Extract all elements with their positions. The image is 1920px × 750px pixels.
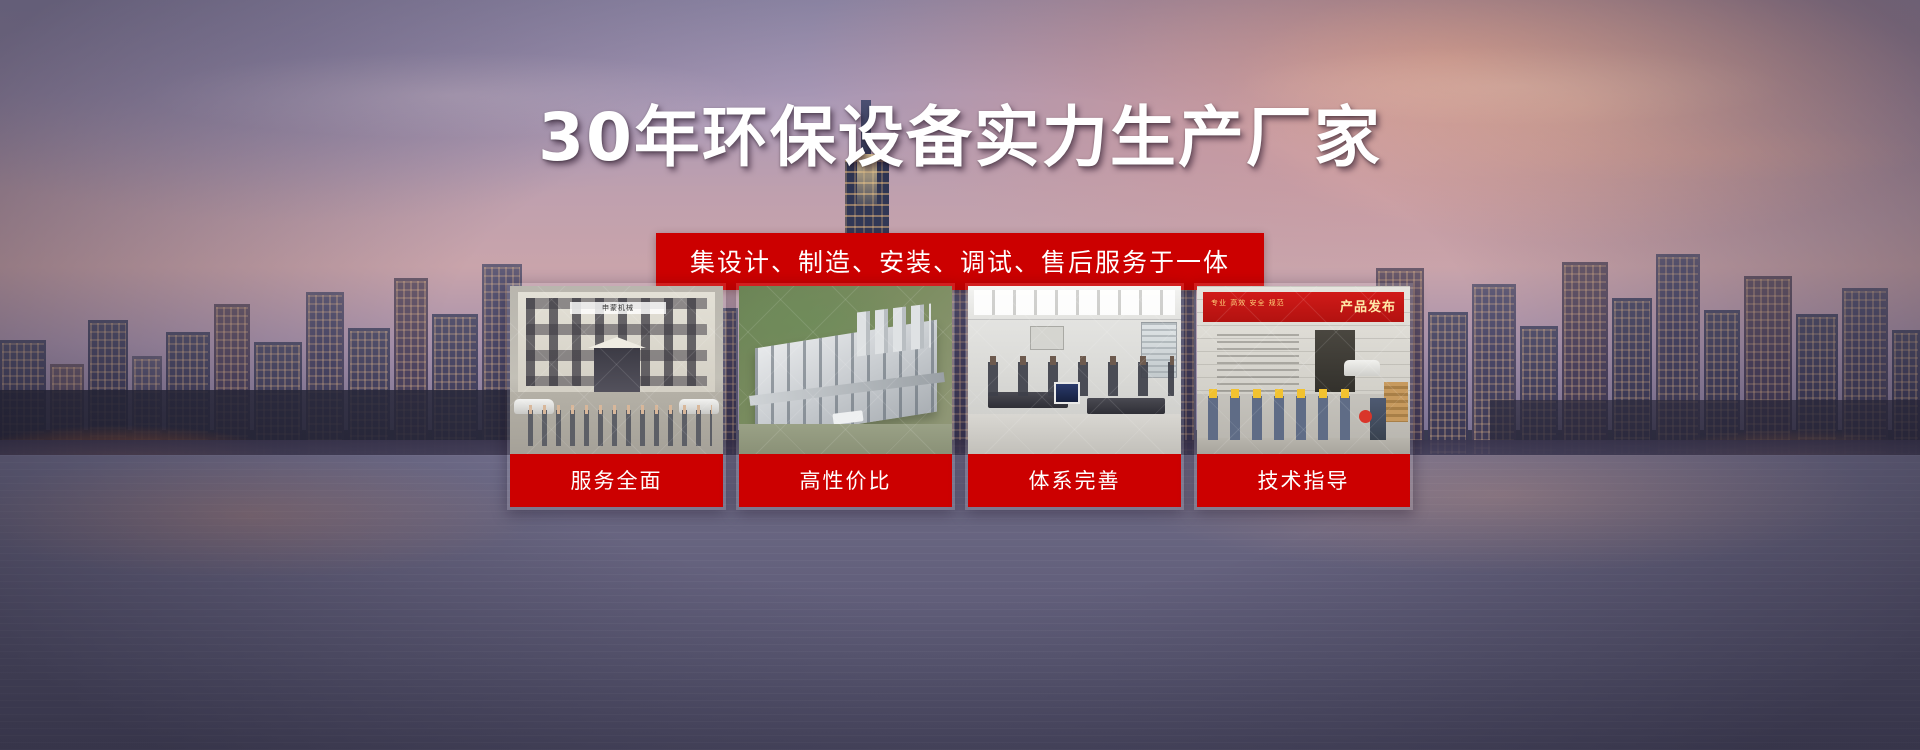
banner-subtitle: 集设计、制造、安装、调试、售后服务于一体 [656,233,1264,290]
feature-card[interactable]: 高性价比 [736,283,955,510]
banner-subtitle-container: 集设计、制造、安装、调试、售后服务于一体 [0,233,1920,290]
feature-card[interactable]: 专业 高效 安全 规范 产品发布 技术指导 [1194,283,1413,510]
banner-content: 30年环保设备实力生产厂家 集设计、制造、安装、调试、售后服务于一体 申蒙机械 … [0,0,1920,750]
workshop-red-banner: 专业 高效 安全 规范 产品发布 [1203,292,1404,322]
workshop-banner-side-text: 专业 高效 安全 规范 [1211,299,1285,307]
workshop-banner-title: 产品发布 [1340,296,1396,315]
card-photo-workshop: 专业 高效 安全 规范 产品发布 [1197,286,1410,454]
card-label-value: 高性价比 [739,454,952,507]
card-label-service: 服务全面 [510,454,723,507]
hero-banner: 30年环保设备实力生产厂家 集设计、制造、安装、调试、售后服务于一体 申蒙机械 … [0,0,1920,750]
card-label-guidance: 技术指导 [1197,454,1410,507]
feature-card-list: 申蒙机械 服务全面 [507,283,1413,510]
building-sign: 申蒙机械 [570,302,666,314]
card-photo-plant [739,286,952,454]
card-photo-office [968,286,1181,454]
card-photo-service: 申蒙机械 [510,286,723,454]
banner-headline: 30年环保设备实力生产厂家 [0,103,1920,172]
feature-card[interactable]: 体系完善 [965,283,1184,510]
card-label-system: 体系完善 [968,454,1181,507]
feature-card[interactable]: 申蒙机械 服务全面 [507,283,726,510]
